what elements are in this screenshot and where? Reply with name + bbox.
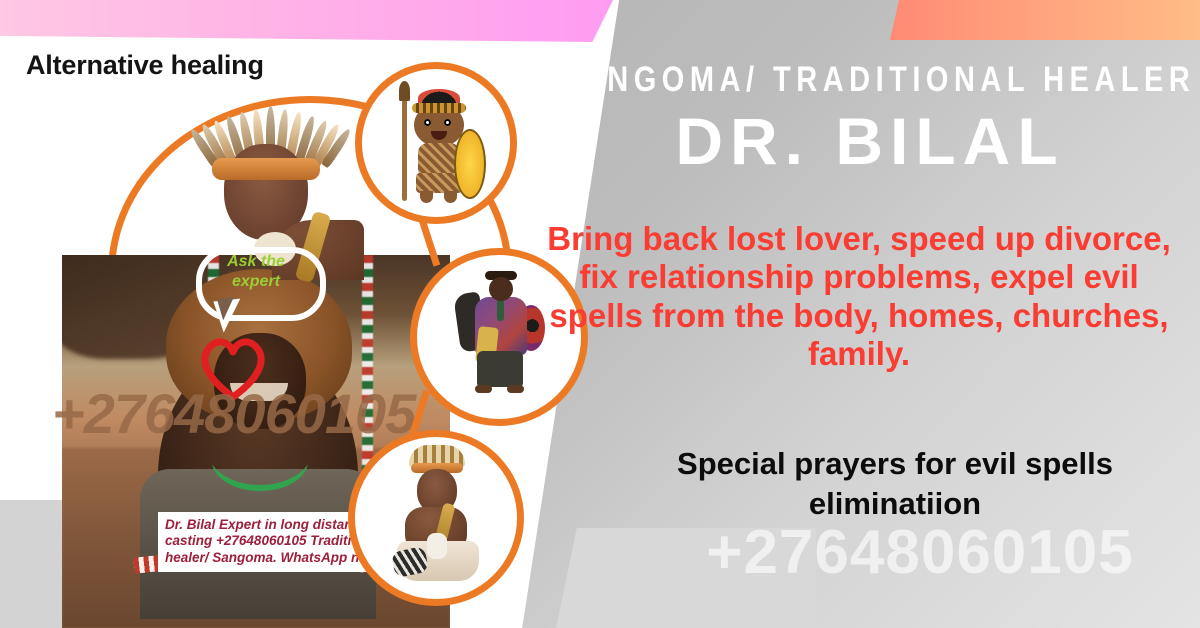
spear [402, 85, 407, 201]
boy-headband [412, 103, 466, 113]
warrior-crown-band [212, 158, 320, 180]
healer-shoe-right [507, 385, 524, 393]
badge-zulu-warrior [355, 62, 517, 224]
boy-eye-left [424, 119, 431, 126]
boy-leg-right [444, 191, 457, 203]
panel-phone-number: +27648060105 [640, 522, 1200, 584]
services-text: Bring back lost lover, speed up divorce,… [528, 220, 1190, 373]
speech-bubble-tail-inner [217, 297, 236, 321]
artwork-cluster: Ask the expert +27648060105 Dr. Bilal Ex… [0, 0, 560, 628]
yellow-shield [454, 129, 486, 199]
healer-pants [477, 351, 523, 387]
speech-bubble-text: Ask the expert [204, 252, 308, 293]
badge-crouching-warrior [348, 430, 524, 606]
healer-shoe-left [475, 385, 492, 393]
alternative-healing-heading: Alternative healing [26, 52, 264, 79]
warrior-illustration [168, 100, 368, 265]
boy-eye-right [444, 119, 451, 126]
healer-head [489, 277, 513, 301]
healer-name: DR. BILAL [556, 108, 1184, 174]
zulu-warrior-illustration [388, 81, 484, 201]
healer-tie [497, 299, 504, 321]
special-prayers-text: Special prayers for evil spells eliminat… [600, 444, 1190, 525]
boy-leg-left [420, 191, 433, 203]
kicker-title: SANGOMA/ TRADITIONAL HEALER [556, 63, 1184, 98]
crouch-armband [427, 533, 447, 559]
promo-poster: Ask the expert +27648060105 Dr. Bilal Ex… [0, 0, 1200, 628]
spear-tip [399, 81, 410, 101]
orange-accent-bar [890, 0, 1200, 40]
crouching-warrior-illustration [379, 445, 489, 585]
